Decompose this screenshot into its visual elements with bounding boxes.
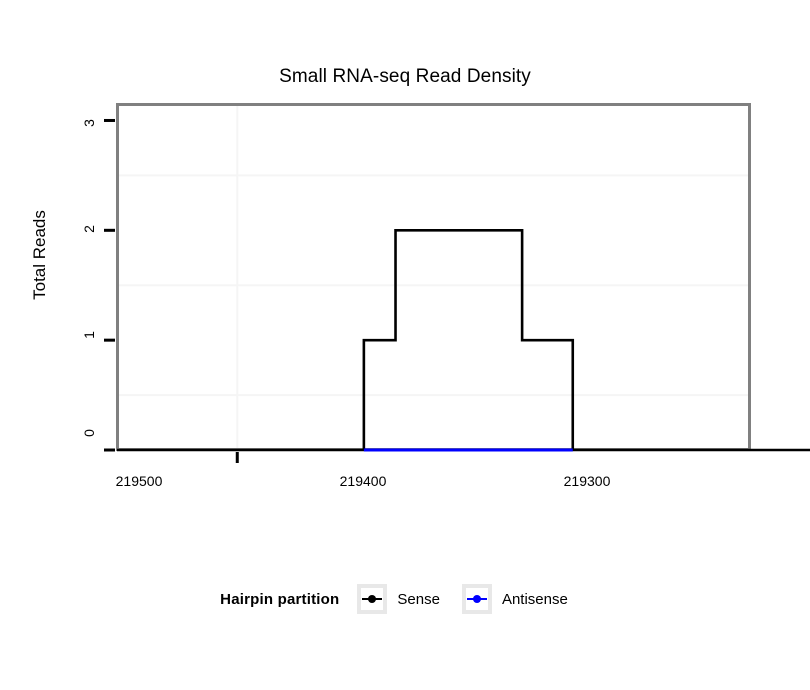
chart-container: Small RNA-seq Read Density Total Reads 3…	[0, 0, 810, 690]
panel-background	[117, 104, 750, 450]
legend-title: Hairpin partition	[220, 591, 339, 608]
legend: Hairpin partition Sense Antisense	[0, 584, 810, 614]
legend-label-antisense: Antisense	[502, 591, 568, 608]
sense-line-icon	[361, 588, 383, 610]
legend-key-antisense[interactable]	[462, 584, 492, 614]
antisense-line-icon	[466, 588, 488, 610]
legend-label-sense: Sense	[397, 591, 440, 608]
legend-key-sense[interactable]	[357, 584, 387, 614]
